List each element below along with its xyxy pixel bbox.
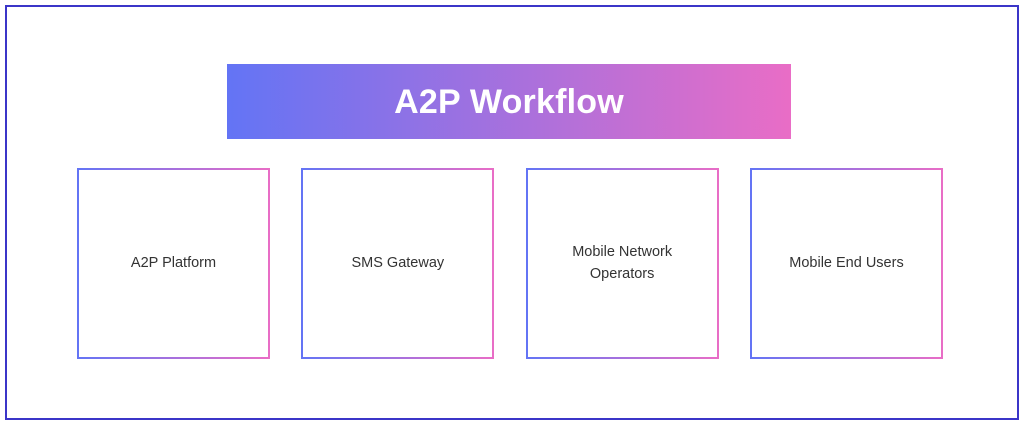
outer-frame: A2P Workflow A2P Platform SMS Gateway Mo… xyxy=(5,5,1019,420)
title-banner: A2P Workflow xyxy=(227,64,791,139)
node-label: A2P Platform xyxy=(131,253,216,274)
workflow-node-mobile-network-operators[interactable]: Mobile Network Operators xyxy=(526,168,719,359)
workflow-node-sms-gateway[interactable]: SMS Gateway xyxy=(301,168,494,359)
workflow-node-row: A2P Platform SMS Gateway Mobile Network … xyxy=(77,168,943,359)
diagram-canvas: A2P Workflow A2P Platform SMS Gateway Mo… xyxy=(0,0,1024,425)
workflow-node-mobile-end-users[interactable]: Mobile End Users xyxy=(750,168,943,359)
node-label: SMS Gateway xyxy=(351,253,444,274)
node-label: Mobile End Users xyxy=(789,253,903,274)
workflow-node-a2p-platform[interactable]: A2P Platform xyxy=(77,168,270,359)
diagram-title: A2P Workflow xyxy=(394,85,624,119)
node-label: Mobile Network Operators xyxy=(547,242,697,284)
